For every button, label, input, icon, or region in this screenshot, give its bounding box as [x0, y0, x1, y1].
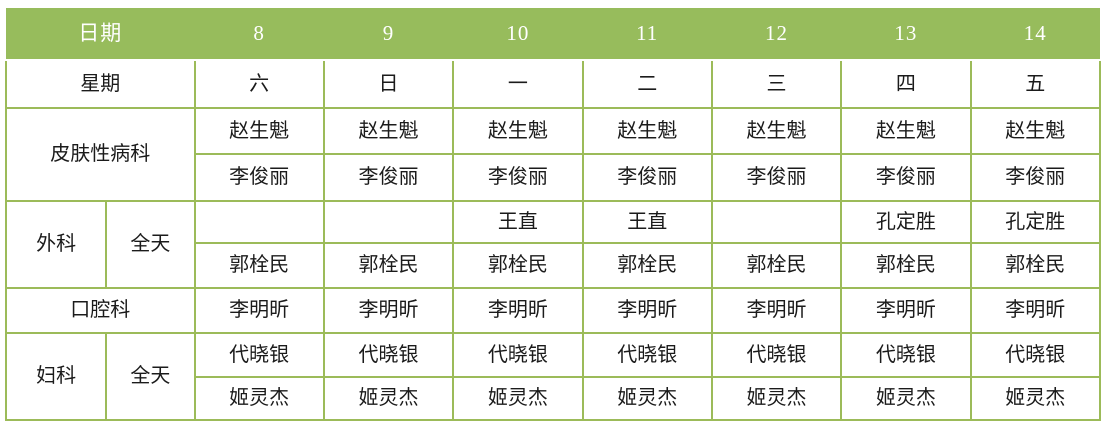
duty-cell: 李俊丽	[971, 154, 1100, 201]
duty-cell: 代晓银	[841, 333, 970, 377]
header-date-10: 10	[453, 8, 582, 60]
duty-cell: 姬灵杰	[712, 377, 841, 420]
duty-cell: 姬灵杰	[971, 377, 1100, 420]
weekday-cell-12: 三	[712, 60, 841, 108]
duty-cell: 赵生魁	[712, 108, 841, 154]
duty-cell: 代晓银	[971, 333, 1100, 377]
weekday-cell-14: 五	[971, 60, 1100, 108]
duty-cell: 李明昕	[841, 288, 970, 333]
duty-cell: 赵生魁	[195, 108, 324, 154]
weekday-cell-10: 一	[453, 60, 582, 108]
duty-cell: 赵生魁	[971, 108, 1100, 154]
table-row-gynecology-1: 妇科 全天 代晓银 代晓银 代晓银 代晓银 代晓银 代晓银 代晓银	[6, 333, 1100, 377]
duty-cell: 郭栓民	[841, 243, 970, 288]
header-label-date: 日期	[6, 8, 195, 60]
duty-cell: 赵生魁	[324, 108, 453, 154]
duty-cell: 姬灵杰	[453, 377, 582, 420]
duty-cell	[712, 201, 841, 243]
duty-cell: 赵生魁	[841, 108, 970, 154]
weekday-cell-13: 四	[841, 60, 970, 108]
table-header-row-date: 日期 8 9 10 11 12 13 14	[6, 8, 1100, 60]
duty-cell: 李俊丽	[583, 154, 712, 201]
slot-label-gynecology: 全天	[106, 333, 194, 420]
weekday-cell-9: 日	[324, 60, 453, 108]
dept-label-stomatology: 口腔科	[6, 288, 195, 333]
duty-cell: 李明昕	[971, 288, 1100, 333]
duty-cell: 代晓银	[195, 333, 324, 377]
duty-cell: 李俊丽	[195, 154, 324, 201]
duty-cell: 孔定胜	[971, 201, 1100, 243]
duty-cell	[324, 201, 453, 243]
duty-cell: 代晓银	[453, 333, 582, 377]
table-row-stomatology: 口腔科 李明昕 李明昕 李明昕 李明昕 李明昕 李明昕 李明昕	[6, 288, 1100, 333]
duty-cell: 赵生魁	[583, 108, 712, 154]
weekday-cell-8: 六	[195, 60, 324, 108]
duty-cell: 李俊丽	[841, 154, 970, 201]
duty-cell: 郭栓民	[583, 243, 712, 288]
duty-cell: 代晓银	[324, 333, 453, 377]
duty-cell: 郭栓民	[453, 243, 582, 288]
duty-cell: 赵生魁	[453, 108, 582, 154]
duty-cell: 李明昕	[453, 288, 582, 333]
table-header-row-weekday: 星期 六 日 一 二 三 四 五	[6, 60, 1100, 108]
duty-cell: 代晓银	[583, 333, 712, 377]
duty-cell: 姬灵杰	[195, 377, 324, 420]
duty-cell: 孔定胜	[841, 201, 970, 243]
duty-cell: 李明昕	[712, 288, 841, 333]
duty-schedule-table: 日期 8 9 10 11 12 13 14 星期 六 日 一 二 三 四 五	[5, 8, 1101, 421]
header-date-11: 11	[583, 8, 712, 60]
table-row-dermatology-1: 皮肤性病科 赵生魁 赵生魁 赵生魁 赵生魁 赵生魁 赵生魁 赵生魁	[6, 108, 1100, 154]
duty-cell: 王直	[453, 201, 582, 243]
dept-label-dermatology: 皮肤性病科	[6, 108, 195, 201]
duty-cell: 姬灵杰	[583, 377, 712, 420]
duty-cell: 郭栓民	[971, 243, 1100, 288]
duty-cell: 李俊丽	[453, 154, 582, 201]
dept-label-gynecology: 妇科	[6, 333, 106, 420]
duty-cell: 郭栓民	[712, 243, 841, 288]
header-date-14: 14	[971, 8, 1100, 60]
duty-cell: 代晓银	[712, 333, 841, 377]
duty-cell: 姬灵杰	[324, 377, 453, 420]
header-date-9: 9	[324, 8, 453, 60]
duty-cell: 李明昕	[195, 288, 324, 333]
header-date-12: 12	[712, 8, 841, 60]
duty-cell	[195, 201, 324, 243]
weekday-cell-11: 二	[583, 60, 712, 108]
duty-schedule-panel: 日期 8 9 10 11 12 13 14 星期 六 日 一 二 三 四 五	[5, 8, 1101, 420]
duty-cell: 李明昕	[583, 288, 712, 333]
duty-cell: 姬灵杰	[841, 377, 970, 420]
duty-cell: 李明昕	[324, 288, 453, 333]
header-label-weekday: 星期	[6, 60, 195, 108]
header-date-8: 8	[195, 8, 324, 60]
duty-cell: 李俊丽	[712, 154, 841, 201]
table-row-surgery-1: 外科 全天 王直 王直 孔定胜 孔定胜	[6, 201, 1100, 243]
duty-cell: 李俊丽	[324, 154, 453, 201]
duty-cell: 郭栓民	[195, 243, 324, 288]
dept-label-surgery: 外科	[6, 201, 106, 288]
slot-label-surgery: 全天	[106, 201, 194, 288]
header-date-13: 13	[841, 8, 970, 60]
duty-cell: 王直	[583, 201, 712, 243]
duty-cell: 郭栓民	[324, 243, 453, 288]
